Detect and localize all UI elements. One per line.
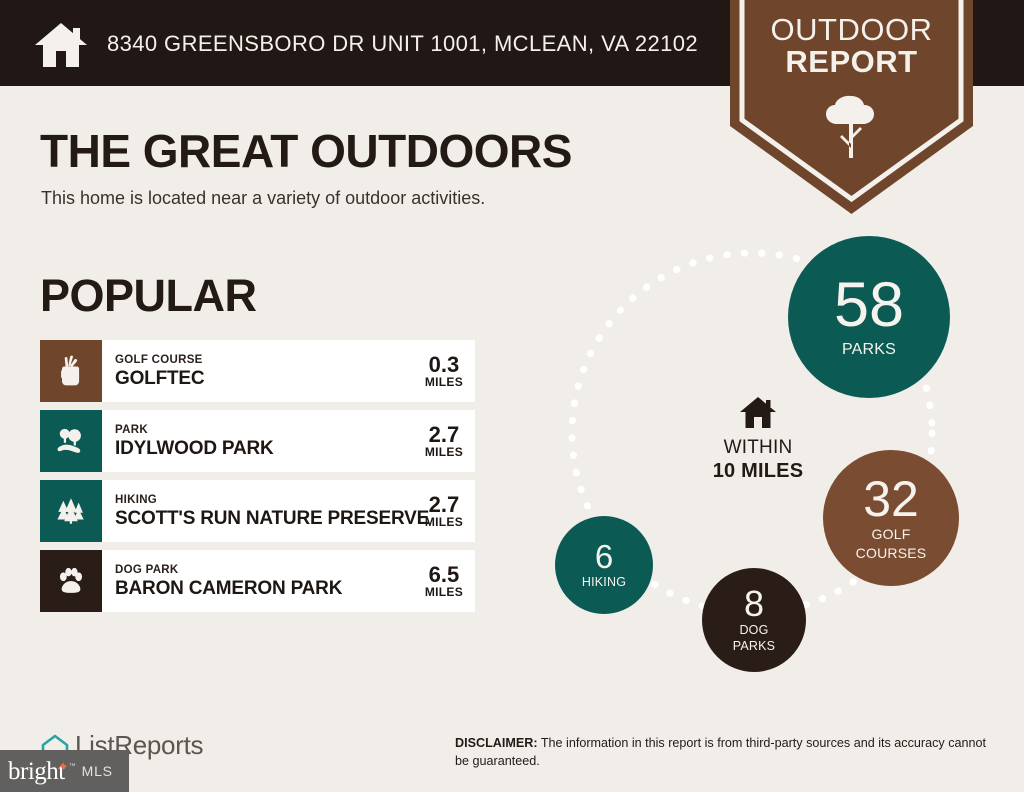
list-item-name: GOLFTEC (115, 368, 419, 389)
outdoor-report-page: 8340 GREENSBORO DR UNIT 1001, MCLEAN, VA… (0, 0, 1024, 792)
distance-unit: MILES (425, 516, 463, 529)
list-item-name: SCOTT'S RUN NATURE PRESERVE (115, 508, 419, 529)
house-icon (33, 21, 89, 69)
property-address: 8340 GREENSBORO DR UNIT 1001, MCLEAN, VA… (107, 31, 698, 57)
outdoor-report-badge: OUTDOOR REPORT (730, 0, 973, 214)
stat-bubble-hiking: 6 HIKING (555, 516, 653, 614)
distance-value: 0.3 (429, 353, 460, 376)
list-item[interactable]: GOLF COURSE GOLFTEC 0.3 MILES (40, 340, 475, 402)
list-item-name: BARON CAMERON PARK (115, 578, 419, 599)
list-item[interactable]: HIKING SCOTT'S RUN NATURE PRESERVE 2.7 M… (40, 480, 475, 542)
distance-unit: MILES (425, 586, 463, 599)
distance-value: 6.5 (429, 563, 460, 586)
list-item-category: PARK (115, 423, 419, 437)
golf-bag-icon (40, 340, 102, 402)
list-item-name: IDYLWOOD PARK (115, 438, 419, 459)
disclaimer: DISCLAIMER: The information in this repo… (455, 734, 995, 771)
popular-list: GOLF COURSE GOLFTEC 0.3 MILES PARK (40, 340, 475, 620)
disclaimer-label: DISCLAIMER: (455, 736, 538, 750)
stat-bubble-parks: 58 PARKS (788, 236, 950, 398)
list-item-distance: 2.7 MILES (419, 410, 475, 472)
center-line2: 10 MILES (668, 459, 848, 483)
list-item-category: HIKING (115, 493, 419, 507)
list-item-text: DOG PARK BARON CAMERON PARK (102, 550, 419, 612)
stat-label: HIKING (582, 576, 626, 589)
list-item-text: HIKING SCOTT'S RUN NATURE PRESERVE (102, 480, 419, 542)
distance-value: 2.7 (429, 493, 460, 516)
center-line1: WITHIN (668, 437, 848, 459)
list-item-category: DOG PARK (115, 563, 419, 577)
list-item-distance: 0.3 MILES (419, 340, 475, 402)
stat-label-line2: COURSES (856, 546, 927, 561)
distance-unit: MILES (425, 446, 463, 459)
watermark-suffix: MLS (82, 763, 113, 779)
list-item-text: GOLF COURSE GOLFTEC (102, 340, 419, 402)
list-item-distance: 2.7 MILES (419, 480, 475, 542)
pine-trees-icon (40, 480, 102, 542)
list-item-category: GOLF COURSE (115, 353, 419, 367)
stat-label: PARKS (842, 342, 896, 359)
stat-label-line1: DOG (739, 624, 768, 637)
house-icon (739, 396, 777, 429)
paw-print-icon (40, 550, 102, 612)
distance-value: 2.7 (429, 423, 460, 446)
stat-label-line2: PARKS (733, 640, 775, 653)
list-item[interactable]: PARK IDYLWOOD PARK 2.7 MILES (40, 410, 475, 472)
park-trees-icon (40, 410, 102, 472)
trademark-icon: ™ (69, 763, 76, 770)
bright-mls-watermark: bright ✦ ™ MLS (0, 750, 129, 792)
list-item-text: PARK IDYLWOOD PARK (102, 410, 419, 472)
stat-count: 58 (834, 276, 904, 336)
within-10-miles-diagram: 58 PARKS 32 GOLF COURSES 8 DOG PARKS 6 H… (520, 228, 1000, 678)
page-subtitle: This home is located near a variety of o… (41, 188, 485, 209)
list-item[interactable]: DOG PARK BARON CAMERON PARK 6.5 MILES (40, 550, 475, 612)
diagram-center: WITHIN 10 MILES (668, 396, 848, 483)
distance-unit: MILES (425, 376, 463, 389)
stat-count: 32 (863, 476, 919, 524)
popular-section-title: POPULAR (40, 270, 257, 322)
list-item-distance: 6.5 MILES (419, 550, 475, 612)
stat-count: 8 (744, 587, 764, 621)
stat-count: 6 (595, 541, 613, 572)
stat-label-line1: GOLF (872, 527, 911, 542)
page-title: THE GREAT OUTDOORS (40, 124, 572, 178)
watermark-brand: bright (8, 759, 65, 784)
sparkle-icon: ✦ (58, 759, 69, 775)
stat-bubble-dog-parks: 8 DOG PARKS (702, 568, 806, 672)
